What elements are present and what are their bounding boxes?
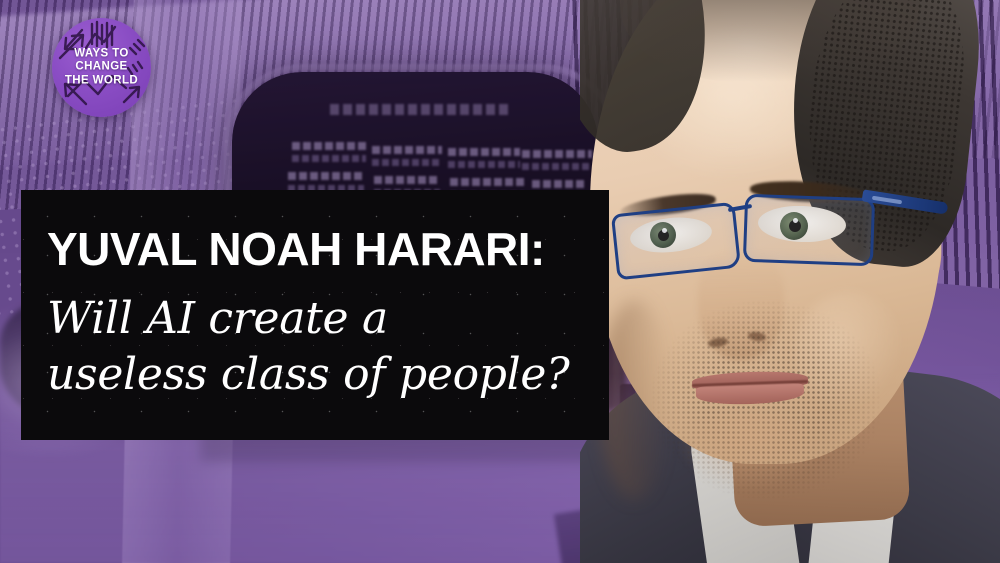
page-title: YUVAL NOAH HARARI: xyxy=(47,226,609,273)
glasses-lens-right xyxy=(743,194,875,266)
logo-line-3: THE WORLD xyxy=(52,74,151,88)
video-thumbnail: WAYS TO CHANGE THE WORLD YUVAL NOAH HARA… xyxy=(0,0,1000,563)
subtitle-line-1: Will AI create a xyxy=(47,291,609,347)
logo-line-2: CHANGE xyxy=(52,61,151,75)
glasses-lens-left xyxy=(611,202,741,281)
subject-portrait xyxy=(580,0,1000,563)
logo-line-1: WAYS TO xyxy=(52,47,151,61)
ways-to-change-the-world-logo[interactable]: WAYS TO CHANGE THE WORLD xyxy=(52,18,151,117)
chin-highlight xyxy=(676,412,826,492)
logo-text: WAYS TO CHANGE THE WORLD xyxy=(52,47,151,88)
title-overlay-box: YUVAL NOAH HARARI: Will AI create a usel… xyxy=(21,190,609,440)
subtitle-line-2: useless class of people? xyxy=(47,347,609,403)
